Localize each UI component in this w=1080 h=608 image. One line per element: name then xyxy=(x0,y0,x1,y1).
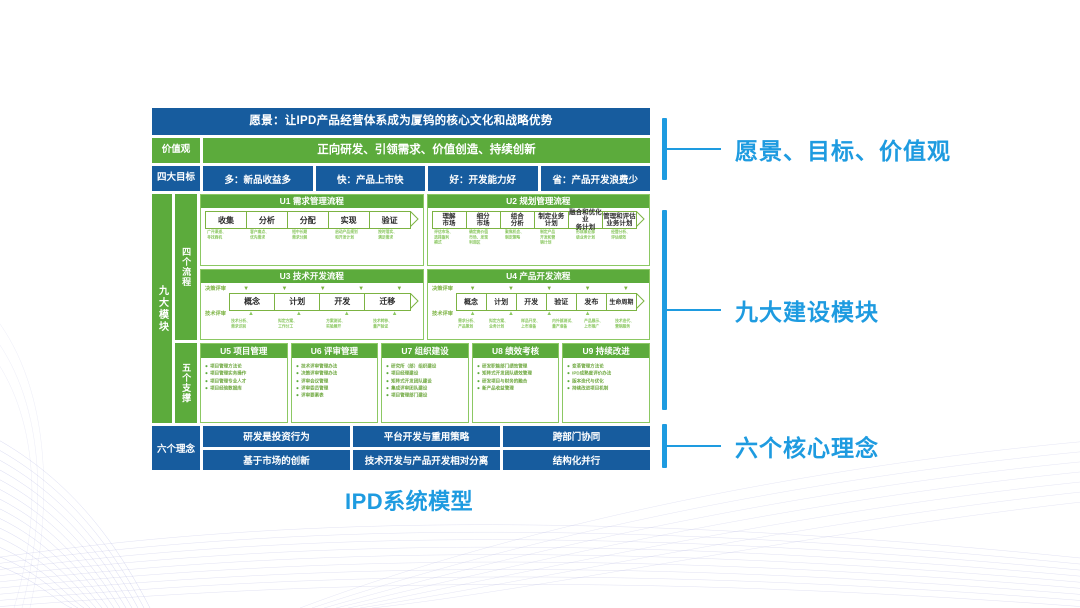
bullet-text: 新产品收益管理 xyxy=(482,384,514,392)
stage-list: 收集 分析 分配 实现 验证 xyxy=(205,211,419,229)
decision-gate-row: 决策评审 ▼ ▼ ▼ ▼ ▼ xyxy=(205,286,419,293)
arrow-head-icon xyxy=(410,293,419,309)
stage-caption: 评估市场、 选择盈利 模式 xyxy=(432,230,469,246)
six-concepts-row: 研发是投资行为 平台开发与重用策略 跨部门协同 xyxy=(203,426,650,447)
annotation-text: 愿景、目标、价值观 xyxy=(735,132,951,166)
support-card-u7[interactable]: U7 组织建设 ●研究所（部）组织建设 ●项目经理建设 ●矩阵式开发团队建设 ●… xyxy=(381,343,469,423)
bullet-text: 项目管理部门建设 xyxy=(391,391,427,399)
annotation-text: 六个核心理念 xyxy=(735,429,879,463)
process-card-u1[interactable]: U1 需求管理流程 收集 分析 分配 实现 验证 xyxy=(200,194,424,266)
support-body: ●研究所（部）组织建设 ●项目经理建设 ●矩阵式开发团队建设 ●集成评审团队建设… xyxy=(382,358,468,402)
stage-box: 开发 xyxy=(516,293,547,311)
stage-box: 细分 市场 xyxy=(466,211,501,229)
stage-box: 验证 xyxy=(546,293,577,311)
stage-caption: 技术转移、 量产验证 xyxy=(371,319,421,330)
support-title: U5 项目管理 xyxy=(201,344,287,358)
process-title: U3 技术开发流程 xyxy=(201,270,423,283)
annotation-text: 九大建设模块 xyxy=(735,293,879,327)
six-concepts-label: 六个理念 xyxy=(152,426,200,470)
stage-caption: 方案测试、 实验展开 xyxy=(324,319,374,330)
arrow-head-icon xyxy=(636,293,645,309)
goals-row: 四大目标 多：新品收益多 快：产品上市快 好：开发能力好 省：产品开发浪费少 xyxy=(152,166,650,191)
gate-marker-up-icon: ▲ xyxy=(530,311,568,317)
decision-review-label: 决策评审 xyxy=(432,286,460,291)
stage-caption: 广开渠道、 寻找商机 xyxy=(205,230,250,241)
gate-marker-up-icon: ▲ xyxy=(227,311,275,317)
stage-list: 理解 市场 细分 市场 组合 分析 制定业务 计划 融合和优化业 务计划 管理和… xyxy=(432,211,646,229)
gate-marker-up-icon: ▲ xyxy=(568,311,606,317)
gate-marker-down-icon: ▼ xyxy=(492,286,530,292)
process-row-bottom: U3 技术开发流程 决策评审 ▼ ▼ ▼ ▼ ▼ xyxy=(200,269,650,341)
annotation-tick-icon xyxy=(667,148,721,150)
stage-box: 制定业务 计划 xyxy=(534,211,569,229)
support-body: ●研发职能部门绩效管理 ●矩阵式开发团队绩效管理 ●研发项目与财务的融合 ●新产… xyxy=(473,358,559,394)
stage-caption: 制定产品 开发和营 销计划 xyxy=(538,230,575,246)
bullet-text: 持续改进项目机制 xyxy=(572,384,608,392)
bullet-dot-icon: ● xyxy=(567,384,570,392)
bullet-dot-icon: ● xyxy=(205,384,208,392)
concept-cell: 跨部门协同 xyxy=(503,426,650,447)
gate-marker-up-icon: ▲ xyxy=(323,311,371,317)
stage-box: 收集 xyxy=(205,211,247,229)
support-body: ●技术评审管理办法 ●决策评审管理办法 ●评审会议管理 ●评审委员管理 ●评审要… xyxy=(292,358,378,402)
support-bullet: ●新产品收益管理 xyxy=(477,384,562,392)
process-title: U4 产品开发流程 xyxy=(428,270,650,283)
stage-box: 概念 xyxy=(456,293,487,311)
bullet-dot-icon: ● xyxy=(296,369,299,377)
stage-caption: 需求分析、 产品策划 xyxy=(456,319,489,330)
bullet-text: 评审要素表 xyxy=(301,391,324,399)
process-card-u4[interactable]: U4 产品开发流程 决策评审 ▼ ▼ ▼ ▼ ▼ xyxy=(427,269,651,341)
process-card-u2[interactable]: U2 规划管理流程 理解 市场 细分 市场 组合 分析 制定业务 计划 融合和优… xyxy=(427,194,651,266)
stage-box: 管理和评估 业务计划 xyxy=(602,211,637,229)
arrow-head-icon xyxy=(636,211,645,227)
bullet-dot-icon: ● xyxy=(477,369,480,377)
bullet-dot-icon: ● xyxy=(567,369,570,377)
support-title: U9 持续改进 xyxy=(563,344,649,358)
process-body: 理解 市场 细分 市场 组合 分析 制定业务 计划 融合和优化业 务计划 管理和… xyxy=(428,208,650,265)
stage-caption: 客户痛点、 优先需求 xyxy=(248,230,293,241)
stage-caption: 形成事业部 级业务计划 xyxy=(574,230,611,246)
gate-marker-down-icon: ▼ xyxy=(342,286,380,292)
ipd-model-diagram: 愿景：让IPD产品经营体系成为厦钨的核心文化和战略优势 价值观 正向研发、引领需… xyxy=(152,108,650,471)
stage-caption: 短中长期 需求分解 xyxy=(290,230,335,241)
gate-marker-down-icon: ▼ xyxy=(530,286,568,292)
support-body: ●项目管理方法论 ●项目管理实务操作 ●项目管理专业人才 ●项目经验数据库 xyxy=(201,358,287,394)
caption-list: 技术分析、 需求识别 拟定方案、 工作分工 方案测试、 实验展开 技术转移、 量… xyxy=(205,319,419,329)
stage-caption: 经营分析、 评估绩效 xyxy=(609,230,646,246)
gate-marker-down-icon: ▼ xyxy=(227,286,265,292)
page-title: IPD系统模型 xyxy=(345,484,473,516)
stage-caption: 拟定方案、 业务计划 xyxy=(487,319,520,330)
stage-caption: 启动产品规划 和开发计划 xyxy=(333,230,378,241)
six-concepts-block: 六个理念 研发是投资行为 平台开发与重用策略 跨部门协同 基于市场的创新 技术开… xyxy=(152,426,650,470)
nine-modules-label: 九大模块 xyxy=(152,194,172,423)
process-title: U2 规划管理流程 xyxy=(428,195,650,208)
support-card-list: U5 项目管理 ●项目管理方法论 ●项目管理实务操作 ●项目管理专业人才 ●项目… xyxy=(200,343,650,423)
stage-box: 计划 xyxy=(274,293,320,311)
stage-caption: 样品开发、 上市准备 xyxy=(519,319,552,330)
support-title: U8 绩效考核 xyxy=(473,344,559,358)
stage-box: 生命周期 xyxy=(606,293,637,311)
arrow-head-icon xyxy=(410,211,419,227)
values-row: 价值观 正向研发、引领需求、价值创造、持续创新 xyxy=(152,138,650,163)
bullet-dot-icon: ● xyxy=(386,369,389,377)
gate-marker-down-icon: ▼ xyxy=(265,286,303,292)
concept-cell: 结构化并行 xyxy=(503,450,650,471)
gate-marker-up-icon: ▲ xyxy=(492,311,530,317)
technical-gate-row: 技术评审 ▲ ▲ ▲ ▲ ▲ xyxy=(432,311,646,318)
stage-list: 概念 计划 开发 迁移 xyxy=(229,293,419,311)
five-supports-section: 五个支撑 U5 项目管理 ●项目管理方法论 ●项目管理实务操作 ●项目管理专业人… xyxy=(175,343,650,423)
technical-review-label: 技术评审 xyxy=(205,311,233,316)
values-statement: 正向研发、引领需求、价值创造、持续创新 xyxy=(203,138,650,163)
gate-marker-down-icon: ▼ xyxy=(380,286,418,292)
four-processes-section: 四个流程 U1 需求管理流程 收集 分析 分配 实现 验证 xyxy=(175,194,650,340)
support-bullet: ●持续改进项目机制 xyxy=(567,384,652,392)
support-title: U6 评审管理 xyxy=(292,344,378,358)
goals-list: 多：新品收益多 快：产品上市快 好：开发能力好 省：产品开发浪费少 xyxy=(203,166,650,191)
gate-marker-down-icon: ▼ xyxy=(607,286,645,292)
support-card-u6[interactable]: U6 评审管理 ●技术评审管理办法 ●决策评审管理办法 ●评审会议管理 ●评审委… xyxy=(291,343,379,423)
technical-review-label: 技术评审 xyxy=(432,311,460,316)
decision-review-label: 决策评审 xyxy=(205,286,233,291)
concept-cell: 研发是投资行为 xyxy=(203,426,350,447)
annotation-modules: 九大建设模块 xyxy=(662,210,879,410)
bullet-dot-icon: ● xyxy=(477,384,480,392)
process-row-top: U1 需求管理流程 收集 分析 分配 实现 验证 xyxy=(200,194,650,266)
annotation-tick-icon xyxy=(667,445,721,447)
process-body: 决策评审 ▼ ▼ ▼ ▼ ▼ xyxy=(201,283,423,340)
process-card-u3[interactable]: U3 技术开发流程 决策评审 ▼ ▼ ▼ ▼ ▼ xyxy=(200,269,424,341)
six-concepts-row: 基于市场的创新 技术开发与产品开发相对分离 结构化并行 xyxy=(203,450,650,471)
goal-item: 省：产品开发浪费少 xyxy=(541,166,651,191)
goal-item: 快：产品上市快 xyxy=(316,166,426,191)
caption-list: 需求分析、 产品策划 拟定方案、 业务计划 样品开发、 上市准备 内外部测试、 … xyxy=(432,319,646,329)
stage-box: 实现 xyxy=(328,211,370,229)
gate-marker-down-icon: ▼ xyxy=(568,286,606,292)
support-card-u9[interactable]: U9 持续改进 ●变革管理方法论 ●IPD成熟度评价办法 ●版本迭代与优化 ●持… xyxy=(562,343,650,423)
technical-gate-row: 技术评审 ▲ ▲ ▲ ▲ xyxy=(205,311,419,318)
gate-marker-down-icon: ▼ xyxy=(304,286,342,292)
concept-cell: 平台开发与重用策略 xyxy=(353,426,500,447)
stage-box: 开发 xyxy=(319,293,365,311)
stage-box: 迁移 xyxy=(364,293,410,311)
support-bullet: ●项目管理部门建设 xyxy=(386,391,471,399)
bullet-dot-icon: ● xyxy=(296,391,299,399)
annotation-concepts: 六个核心理念 xyxy=(662,424,879,468)
stage-list: 概念 计划 开发 验证 发布 生命周期 xyxy=(456,293,646,311)
stage-box: 分析 xyxy=(246,211,288,229)
nine-modules-block: 九大模块 四个流程 U1 需求管理流程 收集 分析 分配 xyxy=(152,194,650,423)
support-card-u8[interactable]: U8 绩效考核 ●研发职能部门绩效管理 ●矩阵式开发团队绩效管理 ●研发项目与财… xyxy=(472,343,560,423)
stage-box: 融合和优化业 务计划 xyxy=(568,211,603,229)
stage-caption: 拟定方案、 工作分工 xyxy=(276,319,326,330)
stage-box: 理解 市场 xyxy=(432,211,467,229)
stage-caption: 聚焦机会、 制定策略 xyxy=(503,230,540,246)
stage-box: 分配 xyxy=(287,211,329,229)
process-body: 决策评审 ▼ ▼ ▼ ▼ ▼ xyxy=(428,283,650,340)
gate-marker-up-icon: ▲ xyxy=(275,311,323,317)
stage-box: 组合 分析 xyxy=(500,211,535,229)
support-bullet: ●评审要素表 xyxy=(296,391,381,399)
vision-banner: 愿景：让IPD产品经营体系成为厦钨的核心文化和战略优势 xyxy=(152,108,650,135)
bullet-text: 项目经验数据库 xyxy=(210,384,242,392)
stage-caption: 按时落实、 满足需求 xyxy=(376,230,421,241)
gate-marker-up-icon: ▲ xyxy=(371,311,419,317)
bullet-dot-icon: ● xyxy=(205,369,208,377)
goal-item: 好：开发能力好 xyxy=(428,166,538,191)
annotation-vision: 愿景、目标、价值观 xyxy=(662,118,951,180)
stage-box: 概念 xyxy=(229,293,275,311)
support-title: U7 组织建设 xyxy=(382,344,468,358)
stage-caption: 产品展示、 上市推广 xyxy=(582,319,615,330)
stage-caption: 技术迭代、 营销服务 xyxy=(613,319,646,330)
process-title: U1 需求管理流程 xyxy=(201,195,423,208)
annotation-tick-icon xyxy=(667,309,721,311)
concept-cell: 技术开发与产品开发相对分离 xyxy=(353,450,500,471)
caption-list: 广开渠道、 寻找商机 客户痛点、 优先需求 短中长期 需求分解 启动产品规划 和… xyxy=(205,230,419,240)
stage-caption: 技术分析、 需求识别 xyxy=(229,319,279,330)
concept-cell: 基于市场的创新 xyxy=(203,450,350,471)
caption-list: 评估市场、 选择盈利 模式 确定高价值 市场、发现 利润区 聚焦机会、 制定策略… xyxy=(432,230,646,246)
stage-box: 验证 xyxy=(369,211,411,229)
five-supports-label: 五个支撑 xyxy=(175,343,197,423)
four-processes-label: 四个流程 xyxy=(175,194,197,340)
goals-label: 四大目标 xyxy=(152,166,200,191)
support-body: ●变革管理方法论 ●IPD成熟度评价办法 ●版本迭代与优化 ●持续改进项目机制 xyxy=(563,358,649,394)
stage-caption: 确定高价值 市场、发现 利润区 xyxy=(467,230,504,246)
stage-box: 发布 xyxy=(576,293,607,311)
support-bullet: ●项目经验数据库 xyxy=(205,384,290,392)
stage-caption: 内外部测试、 量产准备 xyxy=(550,319,583,330)
values-label: 价值观 xyxy=(152,138,200,163)
stage-box: 计划 xyxy=(486,293,517,311)
support-card-u5[interactable]: U5 项目管理 ●项目管理方法论 ●项目管理实务操作 ●项目管理专业人才 ●项目… xyxy=(200,343,288,423)
decision-gate-row: 决策评审 ▼ ▼ ▼ ▼ ▼ xyxy=(432,286,646,293)
process-body: 收集 分析 分配 实现 验证 广开 xyxy=(201,208,423,265)
bullet-dot-icon: ● xyxy=(386,391,389,399)
goal-item: 多：新品收益多 xyxy=(203,166,313,191)
